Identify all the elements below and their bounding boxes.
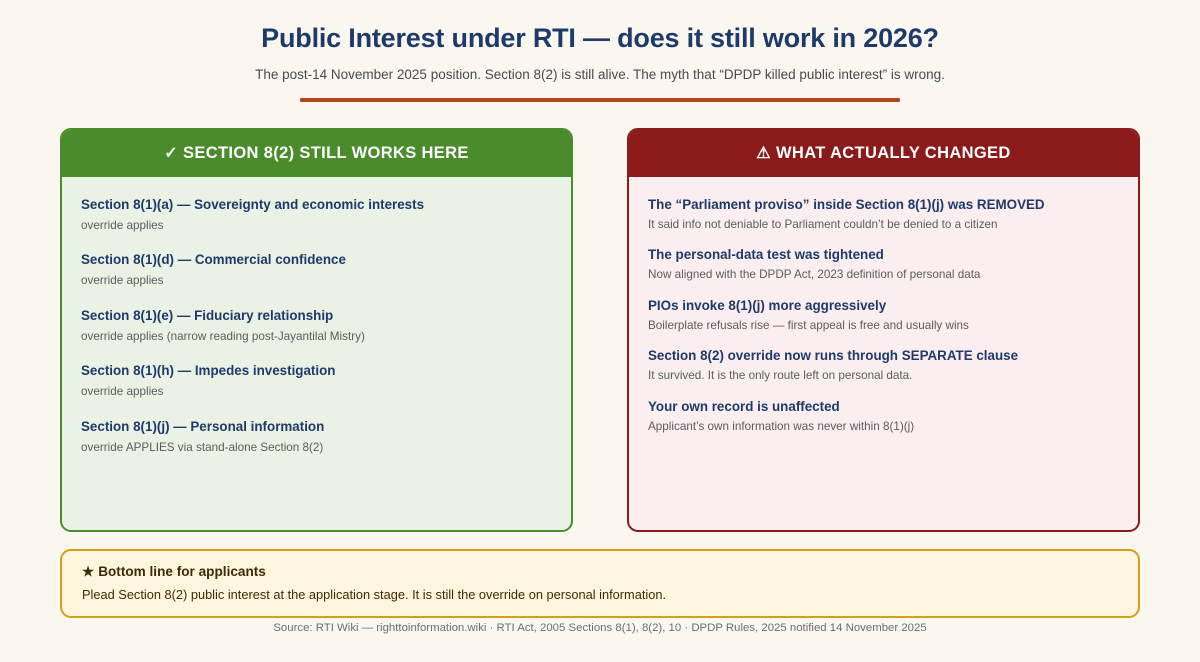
list-item: The “Parliament proviso” inside Section …	[648, 196, 1119, 232]
callout-title: ★Bottom line for applicants	[82, 564, 1118, 580]
item-subtitle: override APPLIES via stand-alone Section…	[81, 440, 552, 456]
list-item: Section 8(1)(d) — Commercial confidence …	[81, 251, 552, 288]
item-subtitle: Applicant’s own information was never wi…	[648, 419, 1119, 435]
item-subtitle: It survived. It is the only route left o…	[648, 368, 1119, 384]
panel-heading-label: SECTION 8(2) STILL WORKS HERE	[183, 144, 469, 162]
item-title: Section 8(1)(j) — Personal information	[81, 418, 552, 436]
header: Public Interest under RTI — does it stil…	[0, 0, 1200, 102]
list-item: Section 8(2) override now runs through S…	[648, 347, 1119, 383]
page-subtitle: The post-14 November 2025 position. Sect…	[0, 67, 1200, 82]
item-title: Section 8(1)(a) — Sovereignty and econom…	[81, 196, 552, 214]
item-subtitle: override applies (narrow reading post-Ja…	[81, 329, 552, 345]
panel-header-green: ✓SECTION 8(2) STILL WORKS HERE	[62, 130, 571, 177]
item-subtitle: override applies	[81, 384, 552, 400]
item-title: PIOs invoke 8(1)(j) more aggressively	[648, 297, 1119, 315]
star-icon: ★	[82, 564, 94, 579]
list-item: PIOs invoke 8(1)(j) more aggressively Bo…	[648, 297, 1119, 333]
item-title: Your own record is unaffected	[648, 398, 1119, 416]
callout-title-label: Bottom line for applicants	[98, 564, 266, 579]
list-item: Section 8(1)(e) — Fiduciary relationship…	[81, 307, 552, 344]
item-title: Section 8(1)(h) — Impedes investigation	[81, 362, 552, 380]
panel-section-8-2-still-works: ✓SECTION 8(2) STILL WORKS HERE Section 8…	[60, 128, 573, 532]
panel-body-green: Section 8(1)(a) — Sovereignty and econom…	[62, 177, 571, 530]
item-subtitle: It said info not deniable to Parliament …	[648, 217, 1119, 233]
panel-header-red: ⚠WHAT ACTUALLY CHANGED	[629, 130, 1138, 177]
panel-heading-label: WHAT ACTUALLY CHANGED	[776, 144, 1011, 162]
item-subtitle: Boilerplate refusals rise — first appeal…	[648, 318, 1119, 334]
list-item: Section 8(1)(a) — Sovereignty and econom…	[81, 196, 552, 233]
item-title: Section 8(2) override now runs through S…	[648, 347, 1119, 365]
check-icon: ✓	[164, 145, 178, 162]
item-subtitle: override applies	[81, 273, 552, 289]
warning-triangle-icon: ⚠	[756, 145, 771, 162]
item-title: The “Parliament proviso” inside Section …	[648, 196, 1119, 214]
item-title: Section 8(1)(d) — Commercial confidence	[81, 251, 552, 269]
panels-row: ✓SECTION 8(2) STILL WORKS HERE Section 8…	[60, 128, 1140, 532]
item-subtitle: Now aligned with the DPDP Act, 2023 defi…	[648, 267, 1119, 283]
item-title: Section 8(1)(e) — Fiduciary relationship	[81, 307, 552, 325]
item-title: The personal-data test was tightened	[648, 246, 1119, 264]
list-item: Section 8(1)(j) — Personal information o…	[81, 418, 552, 455]
bottom-line-callout: ★Bottom line for applicants Plead Sectio…	[60, 549, 1140, 618]
header-divider	[300, 98, 900, 102]
infographic-page: Public Interest under RTI — does it stil…	[0, 0, 1200, 662]
page-title: Public Interest under RTI — does it stil…	[0, 22, 1200, 54]
list-item: Section 8(1)(h) — Impedes investigation …	[81, 362, 552, 399]
panel-what-actually-changed: ⚠WHAT ACTUALLY CHANGED The “Parliament p…	[627, 128, 1140, 532]
panel-body-red: The “Parliament proviso” inside Section …	[629, 177, 1138, 530]
item-subtitle: override applies	[81, 218, 552, 234]
list-item: Your own record is unaffected Applicant’…	[648, 398, 1119, 434]
source-footer: Source: RTI Wiki — righttoinformation.wi…	[0, 622, 1200, 634]
callout-text: Plead Section 8(2) public interest at th…	[82, 587, 1118, 602]
list-item: The personal-data test was tightened Now…	[648, 246, 1119, 282]
